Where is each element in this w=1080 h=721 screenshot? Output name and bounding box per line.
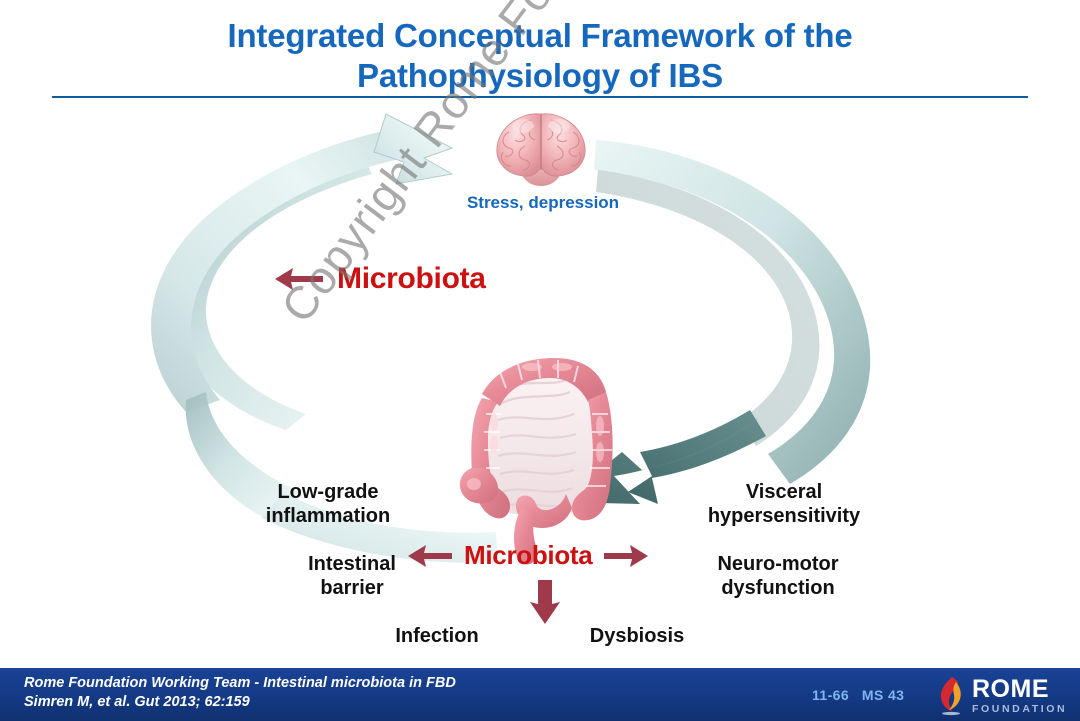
- label-neuro-motor-dysfunction: Neuro-motor dysfunction: [672, 552, 884, 600]
- arrow-down-wrapper: [525, 580, 565, 624]
- microbiota-lower-label: Microbiota: [464, 540, 592, 571]
- label-visceral-hypersensitivity: Visceral hypersensitivity: [678, 480, 890, 528]
- footer-citation: Rome Foundation Working Team - Intestina…: [24, 674, 456, 712]
- brain-illustration: [487, 108, 595, 190]
- rome-foundation-logo: ROME FOUNDATION: [938, 674, 1070, 718]
- microbiota-upper-label: Microbiota: [337, 262, 486, 296]
- label-low-grade-inflammation: Low-grade inflammation: [228, 480, 428, 528]
- microbiota-lower-group: Microbiota: [408, 540, 648, 571]
- stress-depression-label: Stress, depression: [448, 192, 638, 213]
- rome-flame-icon: [938, 676, 964, 716]
- page-title-line-2: Pathophysiology of IBS: [0, 56, 1080, 96]
- label-intestinal-barrier: Intestinal barrier: [262, 552, 442, 600]
- microbiota-upper-group: Microbiota: [275, 262, 486, 296]
- title-divider-rule: [52, 96, 1028, 98]
- rome-wordmark: ROME FOUNDATION: [972, 677, 1067, 715]
- arrow-right-icon: [604, 543, 648, 569]
- arrow-down-icon: [525, 580, 565, 624]
- label-infection: Infection: [372, 624, 502, 648]
- footer-bar: Rome Foundation Working Team - Intestina…: [0, 668, 1080, 721]
- page-title: Integrated Conceptual Framework of the P…: [0, 16, 1080, 96]
- footer-page-number: 11-66 MS 43: [812, 687, 904, 703]
- large-intestine-illustration: [442, 322, 638, 567]
- page-title-line-1: Integrated Conceptual Framework of the: [0, 16, 1080, 56]
- diagram-stage: Stress, depression: [0, 100, 1080, 668]
- rome-logo-name: ROME: [972, 677, 1067, 702]
- arrow-left-icon: [275, 266, 323, 292]
- label-dysbiosis: Dysbiosis: [562, 624, 712, 648]
- rome-logo-subtitle: FOUNDATION: [972, 704, 1067, 715]
